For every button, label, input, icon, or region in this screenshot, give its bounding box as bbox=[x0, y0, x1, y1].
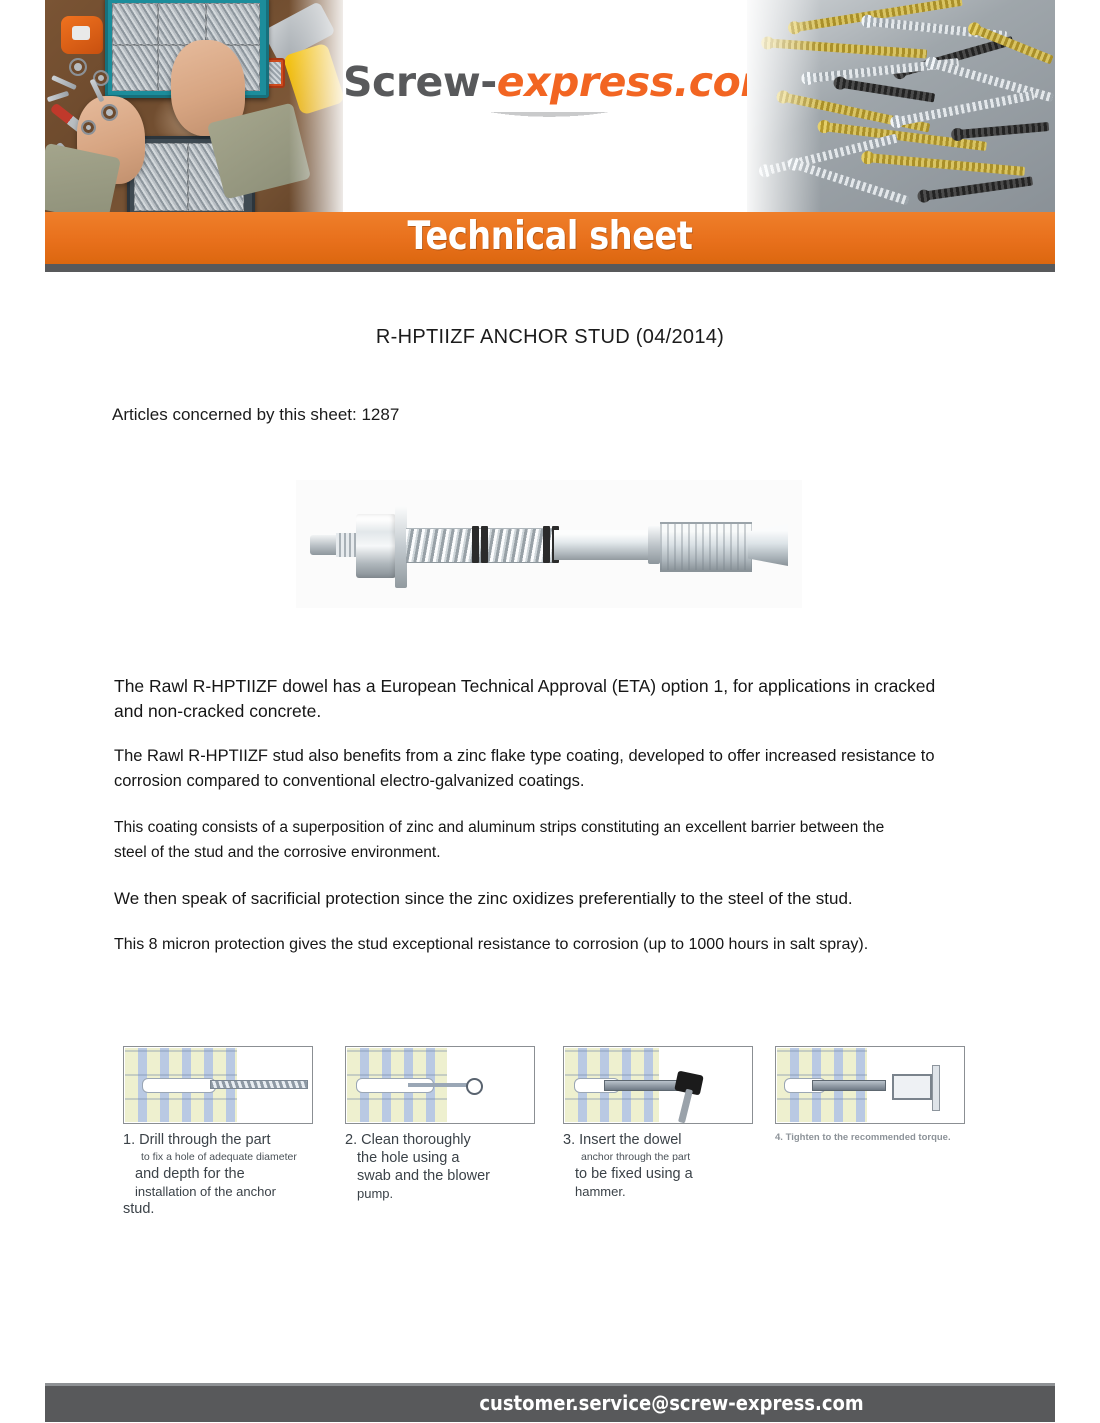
blower-tube-icon bbox=[408, 1083, 470, 1087]
paragraph-5: This 8 micron protection gives the stud … bbox=[114, 932, 974, 957]
step-1-line5: stud. bbox=[123, 1200, 315, 1218]
step-1-number: 1. bbox=[123, 1132, 135, 1148]
step-1-line4: installation of the anchor bbox=[135, 1183, 315, 1200]
blower-pump-icon bbox=[466, 1078, 483, 1095]
smooth-shank bbox=[554, 530, 654, 560]
step-2-line2: the hole using a bbox=[357, 1149, 537, 1167]
collar bbox=[648, 526, 660, 564]
drilled-hole bbox=[142, 1078, 216, 1093]
torque-bar-icon bbox=[932, 1065, 940, 1111]
paragraph-2: The Rawl R-HPTIIZF stud also benefits fr… bbox=[114, 744, 962, 794]
step-1-caption: 1. Drill through the part to fix a hole … bbox=[123, 1131, 315, 1218]
loose-screw bbox=[51, 75, 77, 90]
page-title: R-HPTIIZF ANCHOR STUD (04/2014) bbox=[45, 326, 1055, 349]
step-3-line4: hammer. bbox=[575, 1183, 755, 1200]
page-margin-left bbox=[0, 0, 45, 1422]
installed-anchor-icon bbox=[812, 1080, 886, 1091]
tape-measure-icon bbox=[61, 16, 103, 54]
step-2-line1: Clean thoroughly bbox=[361, 1132, 471, 1148]
paragraph-1: The Rawl R-HPTIIZF dowel has a European … bbox=[114, 674, 944, 724]
brand-logo-part1: Screw- bbox=[343, 58, 497, 106]
install-step-1: 1. Drill through the part to fix a hole … bbox=[123, 1046, 315, 1218]
step-4-line1: Tighten to the recommended torque. bbox=[786, 1132, 951, 1143]
anchor-tail-thread bbox=[336, 533, 358, 557]
paragraph-4: We then speak of sacrificial protection … bbox=[114, 886, 974, 911]
banner-underline bbox=[45, 264, 1055, 272]
washer-part bbox=[69, 58, 87, 76]
step-1-line3: and depth for the bbox=[135, 1165, 315, 1183]
dowel-anchor-icon bbox=[604, 1080, 678, 1091]
step-3-line2: anchor through the part bbox=[581, 1149, 755, 1165]
page-header: Screw-express.com bbox=[45, 0, 1055, 212]
loose-screw bbox=[47, 91, 69, 103]
power-tool-icon bbox=[283, 42, 343, 115]
hammer-handle-icon bbox=[678, 1089, 693, 1124]
workbench-photo bbox=[45, 0, 343, 212]
screws-photo bbox=[747, 0, 1055, 212]
drill-bit-icon bbox=[210, 1080, 308, 1089]
brand-logo: Screw-express.com bbox=[343, 62, 747, 103]
technical-sheet-page: Screw-express.com Technical bbox=[0, 0, 1100, 1422]
wrench-icon bbox=[892, 1074, 932, 1100]
step-3-line1: Insert the dowel bbox=[579, 1132, 681, 1148]
banner-title: Technical sheet bbox=[116, 212, 985, 264]
step-3-figure bbox=[563, 1046, 753, 1124]
black-ring bbox=[472, 526, 479, 563]
step-2-line3: swab and the blower bbox=[357, 1167, 537, 1185]
step-2-number: 2. bbox=[345, 1132, 357, 1148]
paragraph-3: This coating consists of a superposition… bbox=[114, 815, 914, 865]
logo-swoosh-icon bbox=[439, 112, 651, 134]
step-4-number: 4. bbox=[775, 1132, 783, 1143]
drill-icon bbox=[262, 1, 335, 63]
black-ring bbox=[543, 526, 550, 563]
technical-sheet-banner: Technical sheet bbox=[45, 212, 1055, 264]
step-2-figure bbox=[345, 1046, 535, 1124]
step-1-line2: to fix a hole of adequate diameter bbox=[141, 1149, 315, 1165]
step-4-caption: 4. Tighten to the recommended torque. bbox=[775, 1131, 967, 1145]
step-4-figure bbox=[775, 1046, 965, 1124]
brand-logo-part2: express.com bbox=[497, 58, 783, 106]
expansion-clip bbox=[660, 522, 752, 572]
product-photo bbox=[296, 480, 802, 608]
install-step-2: 2. Clean thoroughly the hole using a swa… bbox=[345, 1046, 537, 1202]
washer-part bbox=[81, 120, 96, 135]
step-1-figure bbox=[123, 1046, 313, 1124]
install-step-4: 4. Tighten to the recommended torque. bbox=[775, 1046, 967, 1145]
washer-part bbox=[101, 104, 118, 121]
install-step-3: 3. Insert the dowel anchor through the p… bbox=[563, 1046, 755, 1200]
footer-email[interactable]: customer.service@screw-express.com bbox=[96, 1383, 1005, 1422]
step-3-caption: 3. Insert the dowel anchor through the p… bbox=[563, 1131, 755, 1200]
step-3-number: 3. bbox=[563, 1132, 575, 1148]
step-1-line1: Drill through the part bbox=[139, 1132, 270, 1148]
page-margin-right bbox=[1055, 0, 1100, 1422]
hex-nut bbox=[356, 514, 396, 578]
expansion-cone bbox=[748, 524, 788, 566]
threaded-shank bbox=[406, 528, 554, 563]
step-2-line4: pump. bbox=[357, 1185, 537, 1202]
black-ring bbox=[481, 526, 488, 563]
articles-concerned-line: Articles concerned by this sheet: 1287 bbox=[112, 405, 399, 425]
brand-logo-panel[interactable]: Screw-express.com bbox=[343, 0, 747, 212]
step-3-line3: to be fixed using a bbox=[575, 1165, 755, 1183]
step-2-caption: 2. Clean thoroughly the hole using a swa… bbox=[345, 1131, 537, 1202]
